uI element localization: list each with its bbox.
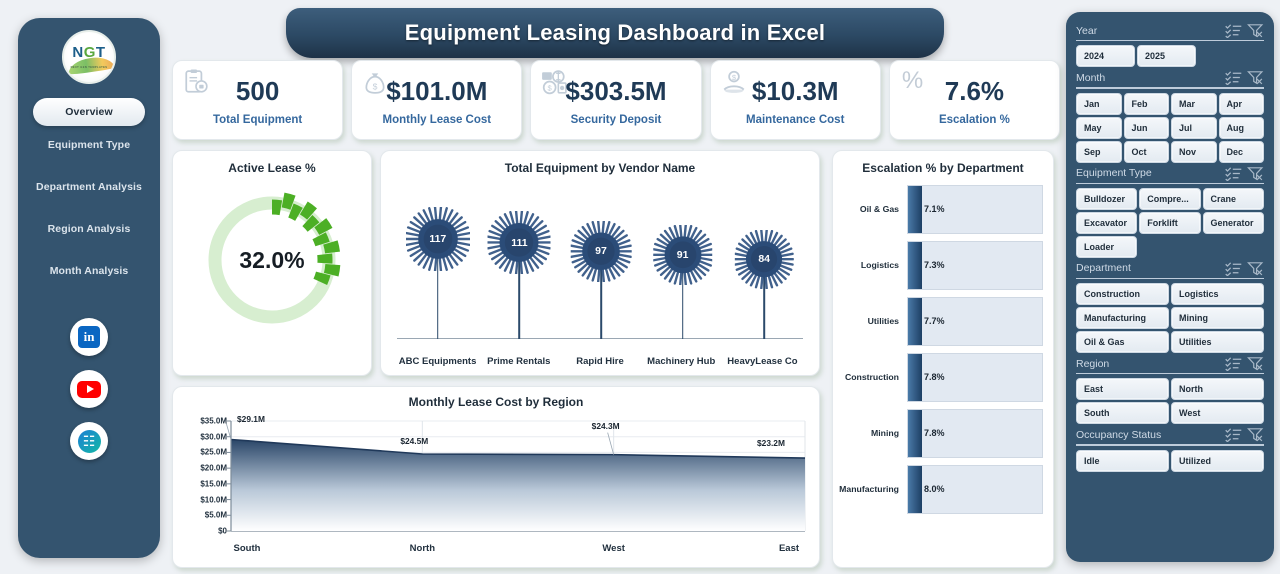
filter-option[interactable]: Dec	[1219, 141, 1265, 163]
chart-title: Total Equipment by Vendor Name	[381, 161, 819, 175]
filter-option[interactable]: Crane	[1203, 188, 1264, 210]
filter-option[interactable]: Utilized	[1171, 450, 1264, 472]
linkedin-icon[interactable]: in	[70, 318, 108, 356]
vendor-burst-icon: 91	[653, 225, 713, 285]
filter-option[interactable]: Oil & Gas	[1076, 331, 1169, 353]
region-area-chart-card: Monthly Lease Cost by Region $0$5.0M$10.…	[172, 386, 820, 568]
filter-options-equipment-type: BulldozerCompre...CraneExcavatorForklift…	[1076, 188, 1264, 258]
filter-divider	[1076, 183, 1264, 184]
escalation-bar-fill	[908, 242, 922, 289]
filter-group-header: Equipment Type	[1076, 166, 1264, 181]
area-x-tick: North	[410, 543, 435, 554]
vendor-bar: 84	[724, 230, 804, 339]
kpi-row: 500 Total Equipment $ $101.0M Monthly Le…	[172, 60, 1060, 140]
kpi-value: $10.3M	[752, 78, 839, 104]
filter-options-year: 20242025	[1076, 45, 1264, 67]
kpi-label: Monthly Lease Cost	[382, 114, 491, 126]
vendor-bar: 91	[643, 225, 723, 339]
chart-title: Escalation % by Department	[833, 161, 1053, 175]
filter-group-title: Region	[1076, 358, 1220, 370]
filter-group-title: Year	[1076, 25, 1220, 37]
escalation-bar-fill	[908, 354, 922, 401]
escalation-row: Mining 7.8%	[839, 405, 1043, 461]
area-data-label: $24.5M	[400, 436, 428, 446]
area-x-tick: South	[234, 543, 261, 554]
area-data-label: $23.2M	[757, 438, 785, 448]
filter-option[interactable]: Oct	[1124, 141, 1170, 163]
area-y-tick: $0	[179, 527, 227, 536]
escalation-chart-card: Escalation % by Department Oil & Gas 7.1…	[832, 150, 1054, 568]
filter-option[interactable]: Jun	[1124, 117, 1170, 139]
filter-option[interactable]: Nov	[1171, 141, 1217, 163]
clear-filter-icon[interactable]	[1247, 261, 1264, 276]
multi-select-icon[interactable]	[1225, 356, 1242, 371]
filter-options-occupancy-status: IdleUtilized	[1076, 450, 1264, 472]
escalation-row: Oil & Gas 7.1%	[839, 181, 1043, 237]
dashboard-root: NGT NEXT GEN TEMPLATES Overview Equipmen…	[0, 0, 1280, 574]
filter-option[interactable]: Sep	[1076, 141, 1122, 163]
logo-tagline: NEXT GEN TEMPLATES	[71, 66, 108, 69]
svg-text:$: $	[548, 84, 553, 93]
area-x-tick: East	[779, 543, 799, 554]
safe-deposit-icon: $	[541, 69, 567, 95]
page-title: Equipment Leasing Dashboard in Excel	[405, 20, 825, 46]
vendor-burst-icon: 84	[735, 230, 793, 288]
filter-option[interactable]: Bulldozer	[1076, 188, 1137, 210]
filter-option[interactable]: Construction	[1076, 283, 1169, 305]
kpi-value: 500	[236, 78, 279, 104]
filter-group-header: Region	[1076, 356, 1264, 371]
escalation-category: Oil & Gas	[839, 204, 907, 214]
area-y-tick: $30.0M	[179, 432, 227, 441]
area-y-tick: $15.0M	[179, 479, 227, 488]
sidebar-item-region-analysis[interactable]: Region Analysis	[33, 216, 145, 242]
vendor-label: Rapid Hire	[559, 356, 640, 367]
escalation-row: Utilities 7.7%	[839, 293, 1043, 349]
vendor-bar: 111	[479, 211, 559, 339]
donut-center-value: 32.0%	[197, 185, 347, 335]
escalation-bar-track: 7.1%	[907, 185, 1043, 234]
escalation-bar-track: 7.8%	[907, 353, 1043, 402]
multi-select-icon[interactable]	[1225, 166, 1242, 181]
vendor-chart-card: Total Equipment by Vendor Name 117 111 9…	[380, 150, 820, 376]
vendor-label: ABC Equipments	[397, 356, 478, 367]
percent-icon: %	[902, 67, 923, 95]
escalation-bar-fill	[908, 466, 922, 513]
escalation-value: 7.8%	[924, 372, 945, 382]
kpi-label: Maintenance Cost	[746, 114, 844, 126]
filter-panel: Year 20242025Month JanFebMarAprMayJunJul…	[1066, 12, 1274, 562]
filter-options-department: ConstructionLogisticsManufacturingMining…	[1076, 283, 1264, 353]
filter-option[interactable]: 2024	[1076, 45, 1135, 67]
filter-options-month: JanFebMarAprMayJunJulAugSepOctNovDec	[1076, 93, 1264, 163]
area-y-tick: $10.0M	[179, 495, 227, 504]
kpi-label: Escalation %	[939, 114, 1010, 126]
filter-option[interactable]: Excavator	[1076, 212, 1137, 234]
logo-text: NGT	[72, 45, 105, 60]
escalation-row: Logistics 7.3%	[839, 237, 1043, 293]
filter-option[interactable]: May	[1076, 117, 1122, 139]
svg-text:$: $	[373, 82, 378, 92]
filter-option[interactable]: Manufacturing	[1076, 307, 1169, 329]
filter-option[interactable]: West	[1171, 402, 1264, 424]
filter-option[interactable]: Jan	[1076, 93, 1122, 115]
sidebar: NGT NEXT GEN TEMPLATES Overview Equipmen…	[18, 18, 160, 558]
escalation-bar-track: 7.3%	[907, 241, 1043, 290]
filter-group-header: Year	[1076, 23, 1264, 38]
area-data-label: $29.1M	[237, 414, 265, 424]
clear-filter-icon[interactable]	[1247, 427, 1264, 442]
filter-divider	[1076, 40, 1264, 41]
filter-option[interactable]: North	[1171, 378, 1264, 400]
multi-select-icon[interactable]	[1225, 23, 1242, 38]
escalation-value: 8.0%	[924, 484, 945, 494]
kpi-card-total-equipment: 500 Total Equipment	[172, 60, 343, 140]
vendor-burst-icon: 117	[406, 207, 470, 271]
escalation-value: 7.7%	[924, 316, 945, 326]
kpi-card-security-deposit: $ $303.5M Security Deposit	[530, 60, 701, 140]
kpi-card-monthly-lease-cost: $ $101.0M Monthly Lease Cost	[351, 60, 522, 140]
filter-option[interactable]: Mining	[1171, 307, 1264, 329]
vendor-label: Prime Rentals	[478, 356, 559, 367]
escalation-category: Construction	[839, 372, 907, 382]
kpi-value: $101.0M	[386, 78, 487, 104]
clear-filter-icon[interactable]	[1247, 70, 1264, 85]
escalation-bar-fill	[908, 410, 922, 457]
filter-group-title: Month	[1076, 72, 1220, 84]
escalation-category: Mining	[839, 428, 907, 438]
filter-group-title: Department	[1076, 262, 1220, 274]
filter-option[interactable]: South	[1076, 402, 1169, 424]
filter-options-region: EastNorthSouthWest	[1076, 378, 1264, 424]
escalation-bar-fill	[908, 298, 922, 345]
filter-group-header: Occupancy Status	[1076, 427, 1264, 442]
sidebar-item-month-analysis[interactable]: Month Analysis	[33, 258, 145, 284]
filter-divider	[1076, 87, 1264, 88]
area-x-tick: West	[602, 543, 625, 554]
escalation-value: 7.8%	[924, 428, 945, 438]
filter-divider	[1076, 373, 1264, 374]
youtube-icon[interactable]	[70, 370, 108, 408]
filter-group-header: Month	[1076, 70, 1264, 85]
escalation-bar-track: 7.7%	[907, 297, 1043, 346]
escalation-value: 7.3%	[924, 260, 945, 270]
clear-filter-icon[interactable]	[1247, 23, 1264, 38]
clipboard-icon	[183, 69, 209, 95]
area-data-label: $24.3M	[592, 421, 620, 431]
vendor-bar: 117	[398, 207, 478, 339]
filter-option[interactable]: Loader	[1076, 236, 1137, 258]
filter-option[interactable]: Aug	[1219, 117, 1265, 139]
sidebar-nav: Overview Equipment Type Department Analy…	[18, 98, 160, 300]
filter-option[interactable]: East	[1076, 378, 1169, 400]
kpi-card-escalation-pct: % 7.6% Escalation %	[889, 60, 1060, 140]
multi-select-icon[interactable]	[1225, 427, 1242, 442]
area-svg	[173, 409, 821, 557]
filter-option[interactable]: 2025	[1137, 45, 1196, 67]
filter-option[interactable]: Logistics	[1171, 283, 1264, 305]
website-icon[interactable]: ☷	[70, 422, 108, 460]
filter-divider	[1076, 444, 1264, 445]
sidebar-item-department-analysis[interactable]: Department Analysis	[33, 174, 145, 200]
dashboard-title-bar: Equipment Leasing Dashboard in Excel	[286, 8, 944, 58]
vendor-label: HeavyLease Co	[722, 356, 803, 367]
multi-select-icon[interactable]	[1225, 261, 1242, 276]
vendor-label: Machinery Hub	[641, 356, 722, 367]
escalation-value: 7.1%	[924, 204, 945, 214]
filter-option[interactable]: Utilities	[1171, 331, 1264, 353]
filter-option[interactable]: Feb	[1124, 93, 1170, 115]
filter-option[interactable]: Idle	[1076, 450, 1169, 472]
clear-filter-icon[interactable]	[1247, 166, 1264, 181]
filter-option[interactable]: Generator	[1203, 212, 1264, 234]
escalation-rows: Oil & Gas 7.1% Logistics 7.3% Utilities …	[833, 175, 1053, 517]
kpi-value: $303.5M	[565, 78, 666, 104]
filter-group-title: Occupancy Status	[1076, 429, 1220, 441]
social-links: in ☷	[70, 318, 108, 460]
hand-coin-icon: $	[721, 69, 747, 95]
filter-option[interactable]: Apr	[1219, 93, 1265, 115]
kpi-value: 7.6%	[945, 78, 1004, 104]
escalation-bar-track: 7.8%	[907, 409, 1043, 458]
filter-divider	[1076, 278, 1264, 279]
filter-group-title: Equipment Type	[1076, 167, 1220, 179]
vendor-category-labels: ABC EquipmentsPrime RentalsRapid HireMac…	[397, 356, 803, 367]
kpi-label: Security Deposit	[571, 114, 662, 126]
escalation-bar-track: 8.0%	[907, 465, 1043, 514]
filter-option[interactable]: Compre...	[1139, 188, 1200, 210]
area-y-tick: $20.0M	[179, 464, 227, 473]
filter-option[interactable]: Jul	[1171, 117, 1217, 139]
clear-filter-icon[interactable]	[1247, 356, 1264, 371]
filter-group-header: Department	[1076, 261, 1264, 276]
kpi-label: Total Equipment	[213, 114, 302, 126]
vendor-burst-icon: 111	[488, 211, 551, 274]
vendor-burst-icon: 97	[571, 221, 632, 282]
escalation-category: Logistics	[839, 260, 907, 270]
chart-title: Active Lease %	[228, 161, 315, 175]
kpi-card-maintenance-cost: $ $10.3M Maintenance Cost	[710, 60, 881, 140]
brand-logo: NGT NEXT GEN TEMPLATES	[62, 30, 116, 84]
escalation-row: Construction 7.8%	[839, 349, 1043, 405]
escalation-bar-fill	[908, 186, 922, 233]
vendor-bar: 97	[561, 221, 641, 339]
filter-option[interactable]: Mar	[1171, 93, 1217, 115]
multi-select-icon[interactable]	[1225, 70, 1242, 85]
area-y-tick: $5.0M	[179, 511, 227, 520]
money-bag-icon: $	[362, 69, 388, 95]
area-plot: $0$5.0M$10.0M$15.0M$20.0M$25.0M$30.0M$35…	[173, 409, 819, 557]
escalation-row: Manufacturing 8.0%	[839, 461, 1043, 517]
vendor-plot: 117 111 97 91 84	[381, 179, 819, 339]
sidebar-item-overview[interactable]: Overview	[33, 98, 145, 126]
area-y-tick: $35.0M	[179, 417, 227, 426]
chart-title: Monthly Lease Cost by Region	[173, 395, 819, 409]
escalation-category: Utilities	[839, 316, 907, 326]
sidebar-item-equipment-type[interactable]: Equipment Type	[33, 132, 145, 158]
active-lease-donut-card: Active Lease % 32.0%	[172, 150, 372, 376]
area-y-tick: $25.0M	[179, 448, 227, 457]
escalation-category: Manufacturing	[839, 484, 907, 494]
donut-chart: 32.0%	[197, 185, 347, 335]
filter-option[interactable]: Forklift	[1139, 212, 1200, 234]
